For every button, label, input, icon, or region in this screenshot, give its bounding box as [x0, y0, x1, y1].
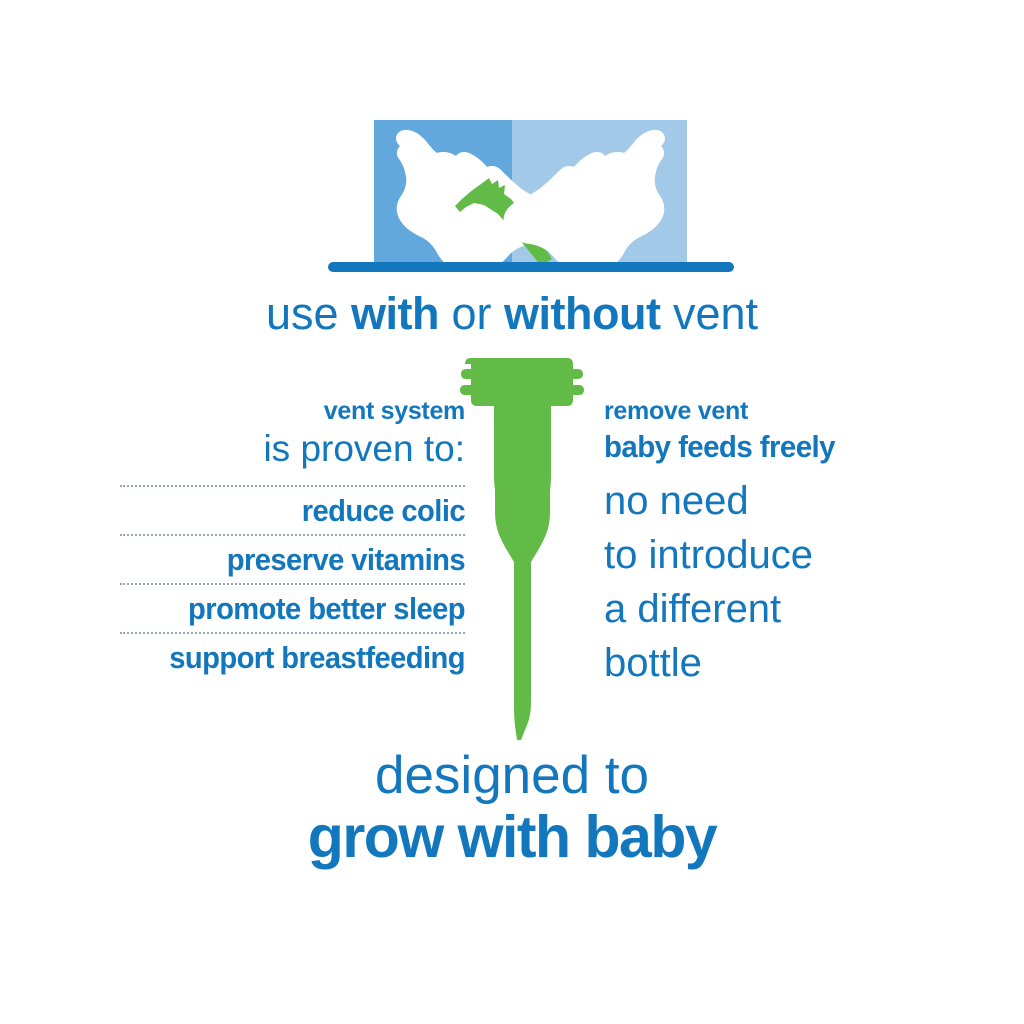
no-need-block: no need to introduce a different bottle — [604, 474, 934, 690]
footer-line-grow-with-baby: grow with baby — [0, 804, 1024, 870]
headline-part-vent: vent — [660, 288, 758, 339]
headline-part-with: with — [351, 288, 439, 339]
vent-system-subhead: is proven to: — [120, 427, 465, 471]
remove-vent-column: remove vent baby feeds freely no need to… — [604, 396, 934, 690]
page-headline: use with or without vent — [0, 288, 1024, 340]
footer-line-designed-to: designed to — [0, 746, 1024, 806]
no-need-line: a different — [604, 582, 934, 636]
no-need-line: bottle — [604, 636, 934, 690]
vent-system-kicker: vent system — [120, 396, 465, 426]
shelf-bar — [328, 262, 734, 272]
vent-system-column: vent system is proven to: reduce colic p… — [120, 396, 465, 681]
hero-graphic — [0, 0, 1024, 290]
headline-part-use: use — [266, 288, 351, 339]
hero-illustration — [0, 0, 1024, 290]
headline-part-without: without — [504, 288, 660, 339]
remove-vent-kicker: remove vent — [604, 396, 934, 426]
no-need-line: no need — [604, 474, 934, 528]
no-need-line: to introduce — [604, 528, 934, 582]
headline-part-or: or — [439, 288, 504, 339]
benefit-list: reduce colic preserve vitamins promote b… — [120, 485, 465, 681]
footer-tagline: designed to grow with baby — [0, 746, 1024, 870]
baby-feeds-freely-line: baby feeds freely — [604, 426, 918, 468]
benefit-item: support breastfeeding — [141, 634, 465, 681]
benefit-item: reduce colic — [141, 487, 465, 534]
infographic-root: use with or without vent vent system is … — [0, 0, 1024, 1024]
benefit-item: preserve vitamins — [141, 536, 465, 583]
benefit-item: promote better sleep — [141, 585, 465, 632]
